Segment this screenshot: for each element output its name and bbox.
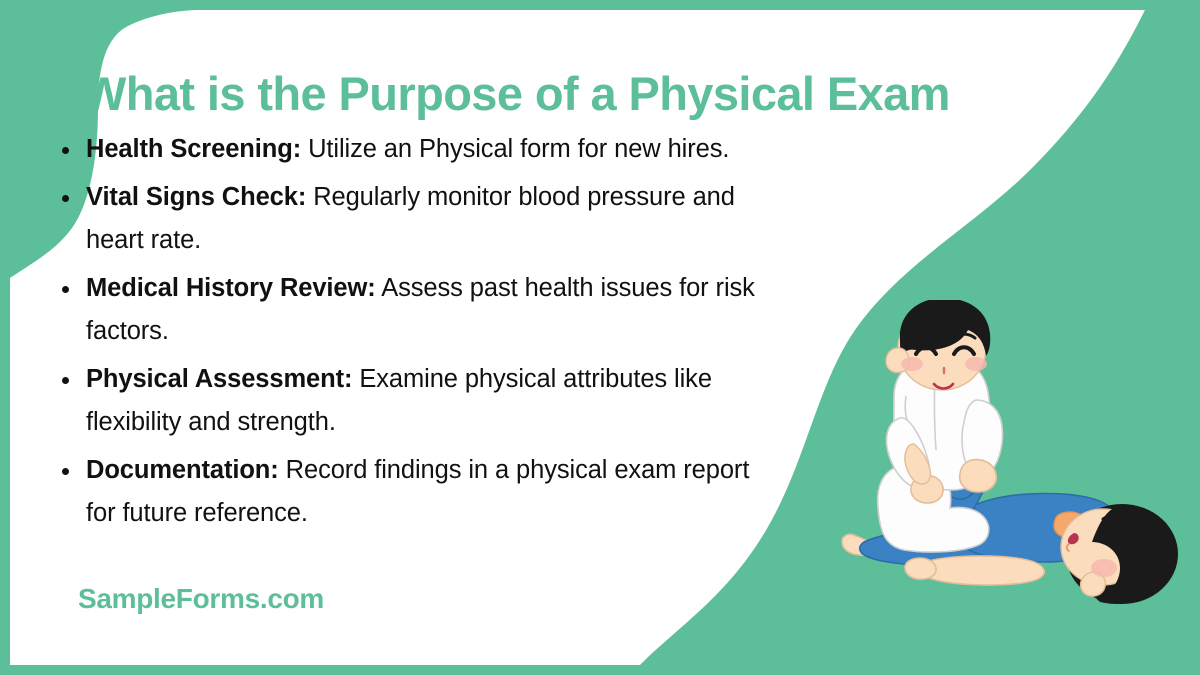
bullet-term: Vital Signs Check: (86, 183, 306, 211)
patient-hand (905, 558, 936, 579)
therapist-left-blush (901, 357, 923, 371)
physical-therapy-illustration (820, 300, 1200, 640)
bullet-term: Documentation: (86, 456, 279, 484)
brand-watermark: SampleForms.com (78, 583, 324, 615)
list-item: Vital Signs Check: Regularly monitor blo… (52, 176, 782, 262)
bullet-term: Physical Assessment: (86, 365, 352, 393)
purpose-bullet-list: Health Screening: Utilize an Physical fo… (52, 128, 782, 540)
therapist-right-hand (960, 460, 997, 492)
bullet-term: Medical History Review: (86, 274, 376, 302)
poster-canvas: What is the Purpose of a Physical Exam H… (0, 0, 1200, 675)
list-item: Health Screening: Utilize an Physical fo… (52, 128, 782, 171)
list-item: Medical History Review: Assess past heal… (52, 267, 782, 353)
patient-cheek-blush (1091, 559, 1117, 577)
page-title: What is the Purpose of a Physical Exam (82, 67, 1092, 121)
bullet-description: Utilize an Physical form for new hires. (301, 135, 729, 163)
list-item: Documentation: Record findings in a phys… (52, 449, 782, 535)
therapist-right-blush (965, 357, 987, 371)
list-item: Physical Assessment: Examine physical at… (52, 358, 782, 444)
patient-eye (1107, 527, 1115, 538)
bullet-term: Health Screening: (86, 135, 301, 163)
